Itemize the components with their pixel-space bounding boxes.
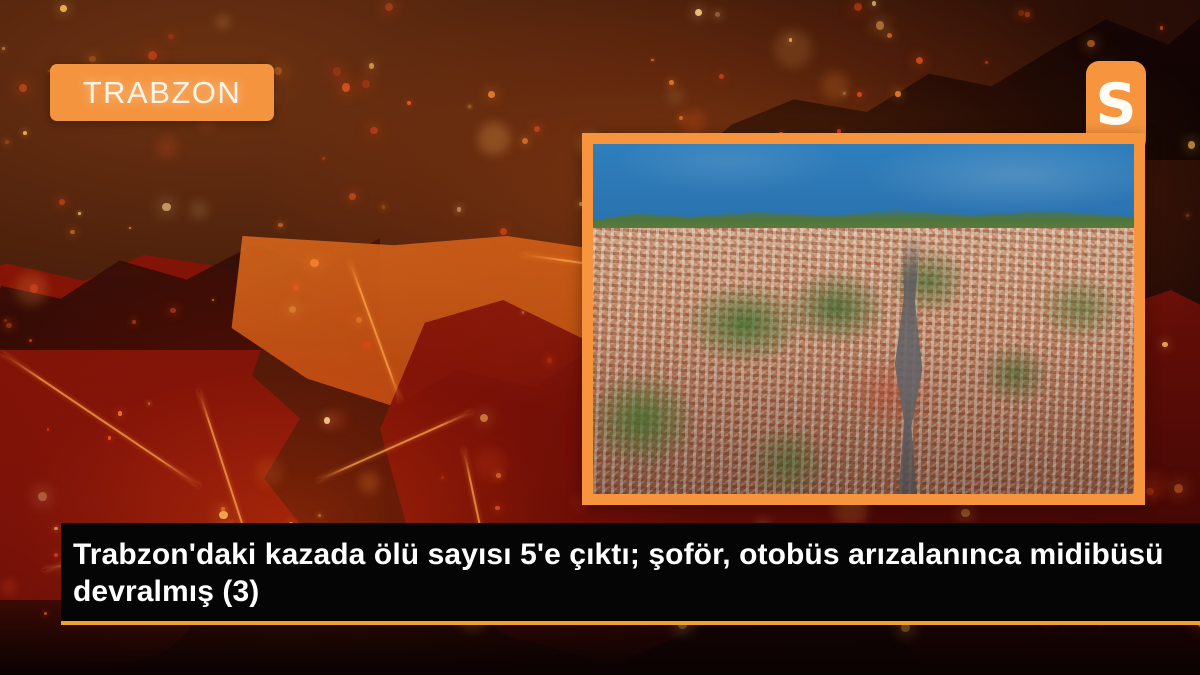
news-card: TRABZON S Trabzon'daki kazada ölü sayısı… — [0, 0, 1200, 675]
city-badge[interactable]: TRABZON — [50, 64, 274, 121]
brand-logo-letter: S — [1095, 77, 1136, 134]
photo-frame[interactable] — [582, 133, 1145, 505]
headline-underline-rule — [61, 621, 1200, 625]
headline-text: Trabzon'daki kazada ölü sayısı 5'e çıktı… — [61, 537, 1200, 610]
photo-vignette — [593, 144, 1134, 494]
photo-image — [593, 144, 1134, 494]
city-badge-label: TRABZON — [83, 75, 242, 111]
headline-panel: Trabzon'daki kazada ölü sayısı 5'e çıktı… — [61, 523, 1200, 625]
